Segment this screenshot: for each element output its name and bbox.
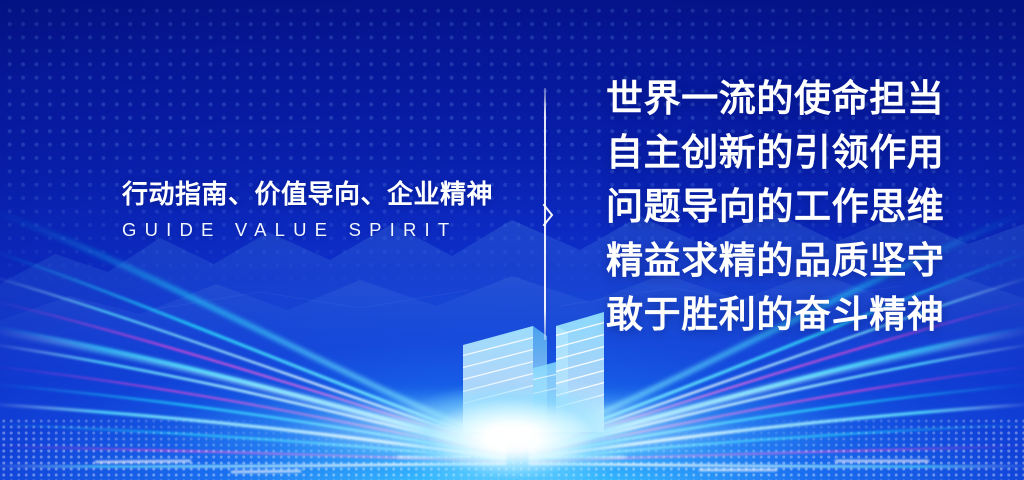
slogan-list: 世界一流的使命担当 自主创新的引领作用 问题导向的工作思维 精益求精的品质坚守 … [606, 72, 1006, 342]
left-title: 行动指南、价值导向、企业精神 [122, 178, 502, 210]
slogan-line-3: 问题导向的工作思维 [606, 180, 1006, 234]
left-heading-block: 行动指南、价值导向、企业精神 GUIDE VALUE SPIRIT [122, 178, 502, 241]
slogan-line-1: 世界一流的使命担当 [606, 72, 1006, 126]
chevron-right-icon [540, 203, 554, 227]
banner-root: 行动指南、价值导向、企业精神 GUIDE VALUE SPIRIT 世界一流的使… [0, 0, 1024, 480]
slogan-line-2: 自主创新的引领作用 [606, 126, 1006, 180]
left-subtitle: GUIDE VALUE SPIRIT [122, 219, 502, 241]
slogan-line-4: 精益求精的品质坚守 [606, 234, 1006, 288]
slogan-line-5: 敢于胜利的奋斗精神 [606, 288, 1006, 342]
